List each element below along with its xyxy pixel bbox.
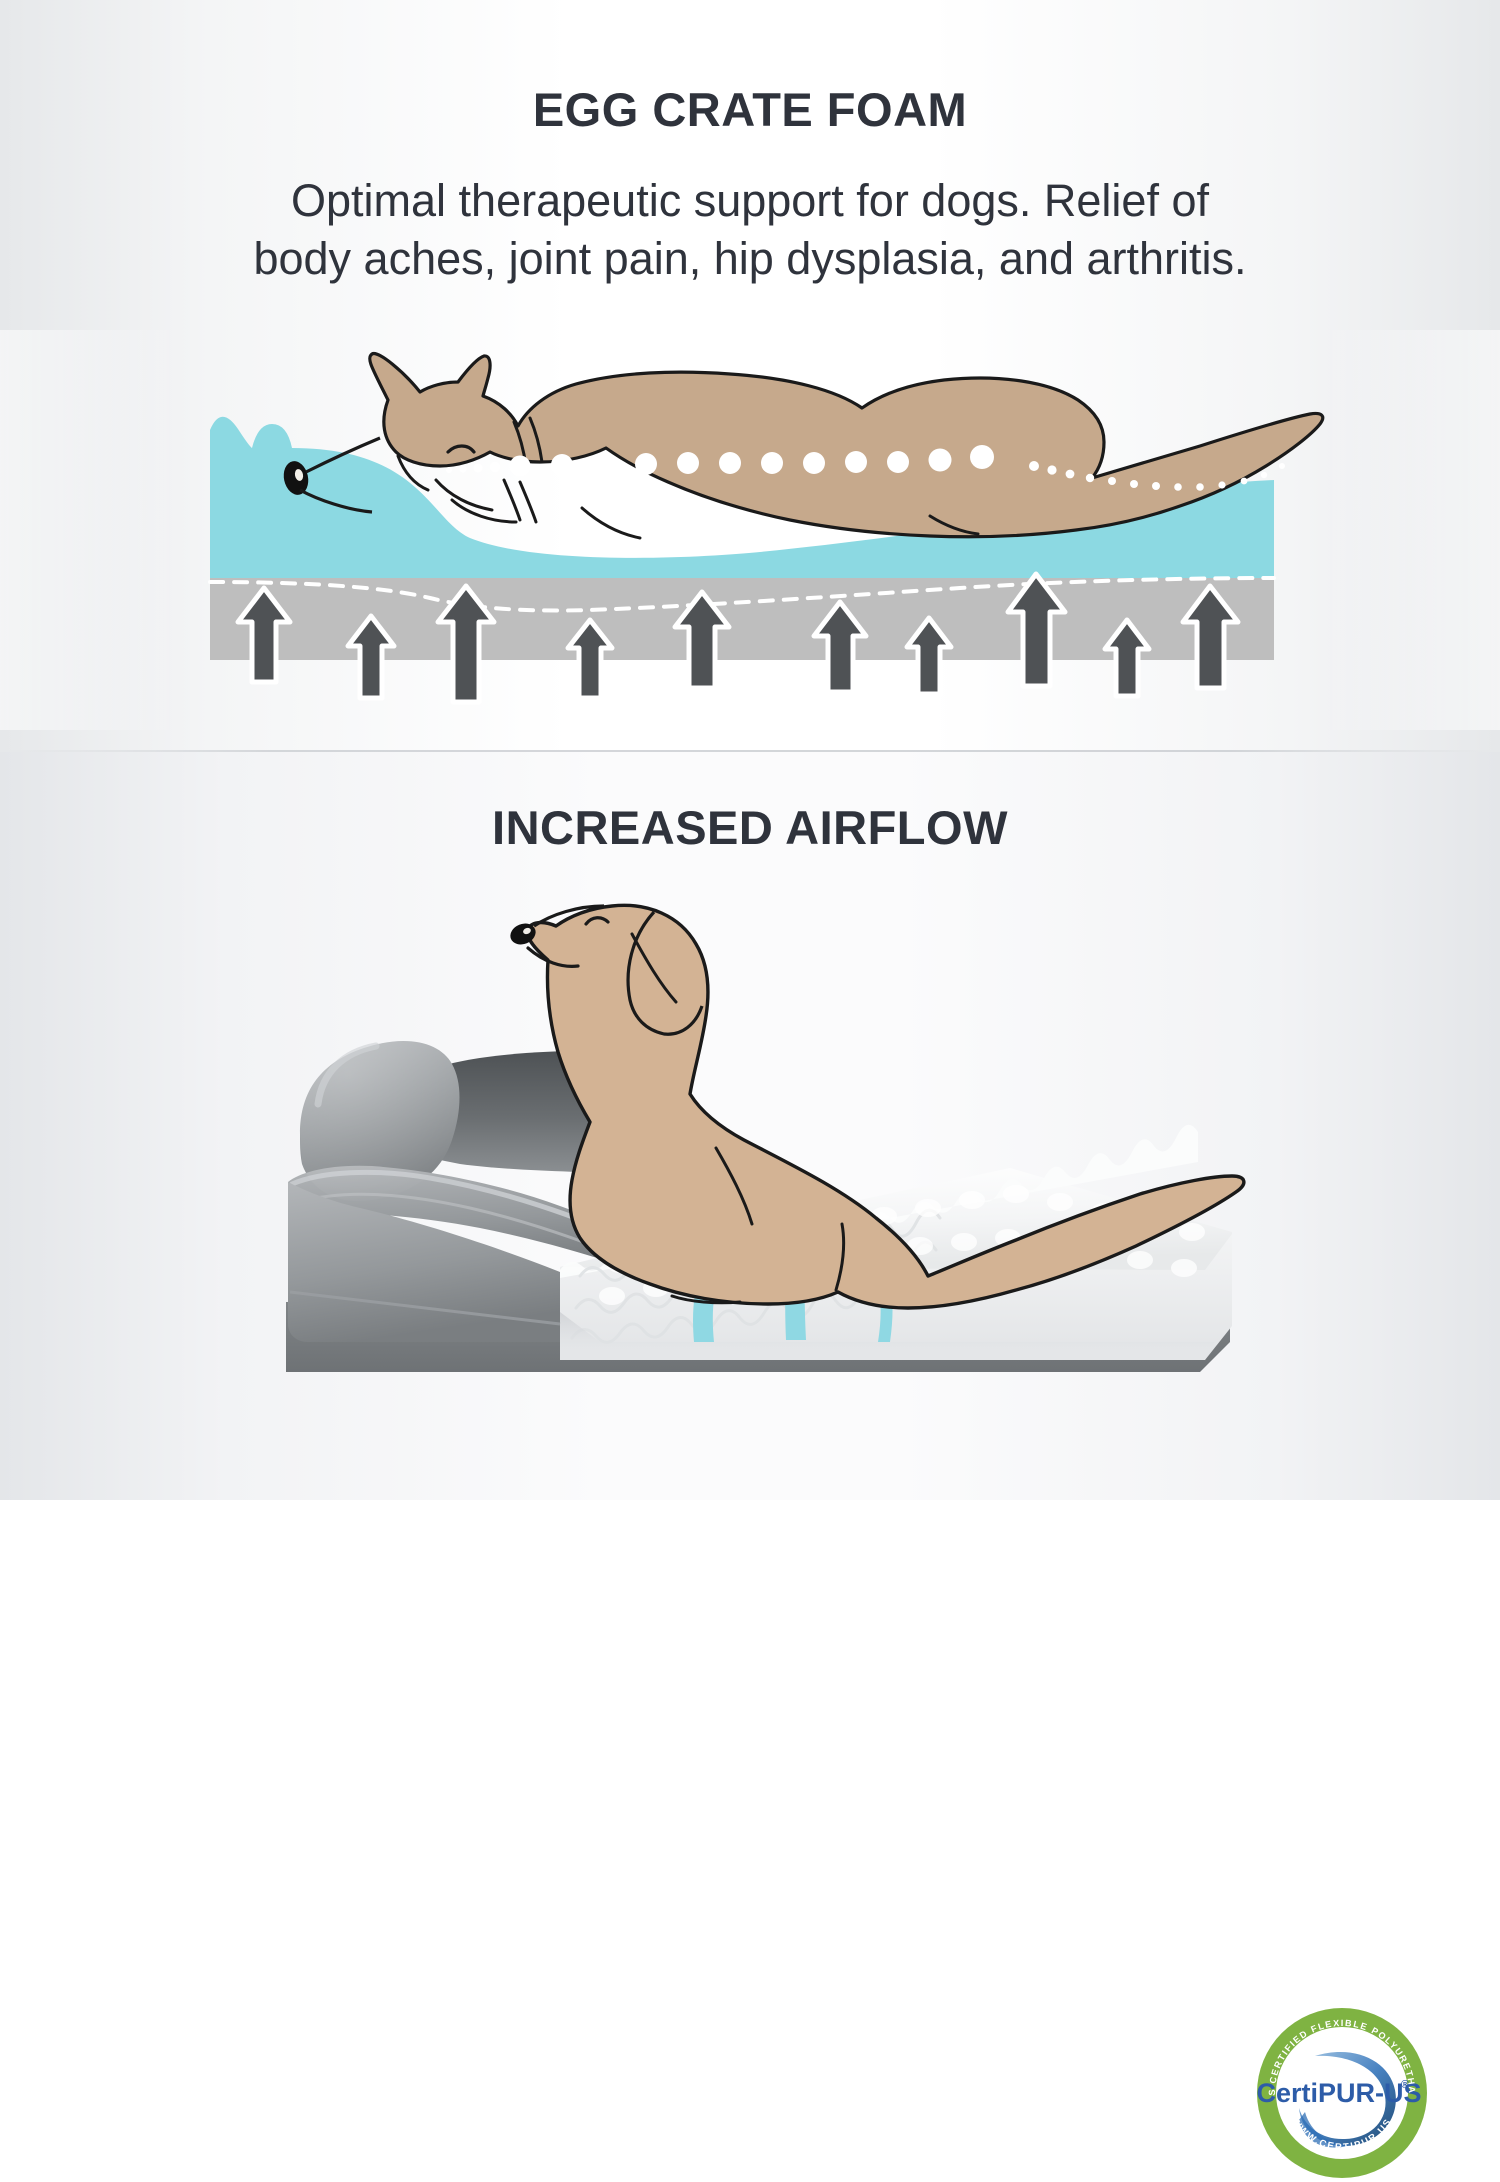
section-increased-airflow: INCREASED AIRFLOW xyxy=(0,752,1500,1500)
badge-brand-text: CertiPUR-US xyxy=(1256,2078,1421,2108)
dog-sitting-figure xyxy=(507,905,1244,1308)
subtitle-line-2: body aches, joint pain, hip dysplasia, a… xyxy=(253,233,1246,284)
page-title-increased-airflow: INCREASED AIRFLOW xyxy=(0,800,1500,855)
illustration-dog-on-bolster-bed xyxy=(0,872,1500,1492)
certipur-us-badge: CertiPUR-US ® CONTAINS CERTIFIED FLEXIBL… xyxy=(1253,2004,1431,2182)
section-egg-crate-foam: EGG CRATE FOAM Optimal therapeutic suppo… xyxy=(0,0,1500,752)
page-title-egg-crate-foam: EGG CRATE FOAM xyxy=(0,82,1500,137)
subtitle-line-1: Optimal therapeutic support for dogs. Re… xyxy=(291,175,1209,226)
subtitle-text: Optimal therapeutic support for dogs. Re… xyxy=(50,172,1450,287)
infographic-page: EGG CRATE FOAM Optimal therapeutic suppo… xyxy=(0,0,1500,1500)
badge-wordmark: CertiPUR-US ® xyxy=(1256,2078,1421,2108)
illustration-dog-on-foam-cross-section xyxy=(0,330,1500,730)
